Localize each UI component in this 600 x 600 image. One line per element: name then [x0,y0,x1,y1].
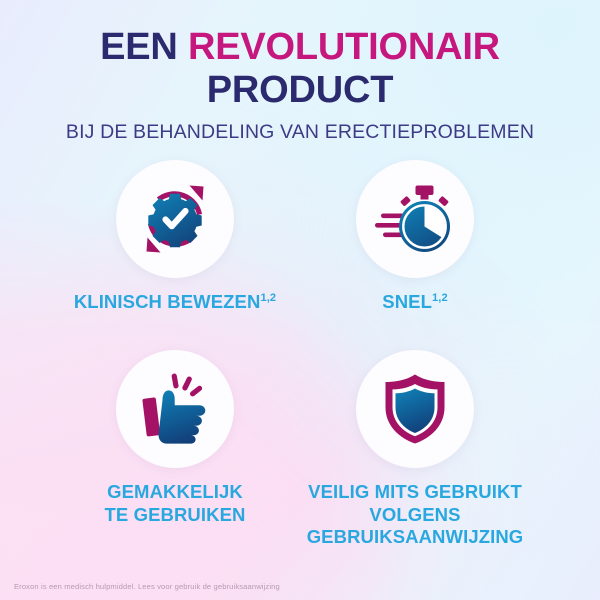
feature-label: VEILIG MITS GEBRUIKT VOLGENS GEBRUIKSAAN… [285,481,545,549]
feature-klinisch-bewezen: KLINISCH BEWEZEN1,2 [45,160,305,314]
headline-line-2: PRODUCT [0,69,600,112]
feature-label: SNEL1,2 [285,291,545,314]
gear-check-refresh-icon [137,181,213,257]
feature-label-line: VEILIG MITS GEBRUIKT [308,481,522,502]
feature-label: GEMAKKELIJK TE GEBRUIKEN [45,481,305,526]
feature-label-line: VOLGENS [369,504,460,525]
feature-label-references: 1,2 [432,292,448,304]
headline-accent-word: REVOLUTIONAIR [188,26,500,68]
headline-block: EEN REVOLUTIONAIR PRODUCT BIJ DE BEHANDE… [0,26,600,144]
feature-gemakkelijk-te-gebruiken: GEMAKKELIJK TE GEBRUIKEN [45,350,305,526]
feature-grid: KLINISCH BEWEZEN1,2 [0,160,600,580]
feature-icon-circle [356,160,474,278]
feature-label-line: GEBRUIKSAANWIJZING [307,526,524,547]
pointing-hand-icon [135,371,215,447]
stopwatch-speed-icon [375,181,455,257]
feature-label: KLINISCH BEWEZEN1,2 [45,291,305,314]
feature-icon-circle [116,160,234,278]
feature-label-references: 1,2 [260,292,276,304]
headline-line-1: EEN REVOLUTIONAIR [0,26,600,69]
feature-veilig-mits-gebruikt: VEILIG MITS GEBRUIKT VOLGENS GEBRUIKSAAN… [285,350,545,549]
feature-icon-circle [116,350,234,468]
feature-label-line: TE GEBRUIKEN [105,504,246,525]
subtitle: BIJ DE BEHANDELING VAN ERECTIEPROBLEMEN [0,121,600,144]
feature-label-text: KLINISCH BEWEZEN [74,291,261,312]
feature-label-text: SNEL [382,291,432,312]
feature-icon-circle [356,350,474,468]
feature-label-line: GEMAKKELIJK [107,481,243,502]
shield-icon [378,371,452,447]
poster-canvas: EEN REVOLUTIONAIR PRODUCT BIJ DE BEHANDE… [0,0,600,600]
feature-snel: SNEL1,2 [285,160,545,314]
footer-disclaimer: Eroxon is een medisch hulpmiddel. Lees v… [14,582,280,591]
headline-prefix: EEN [100,26,188,68]
